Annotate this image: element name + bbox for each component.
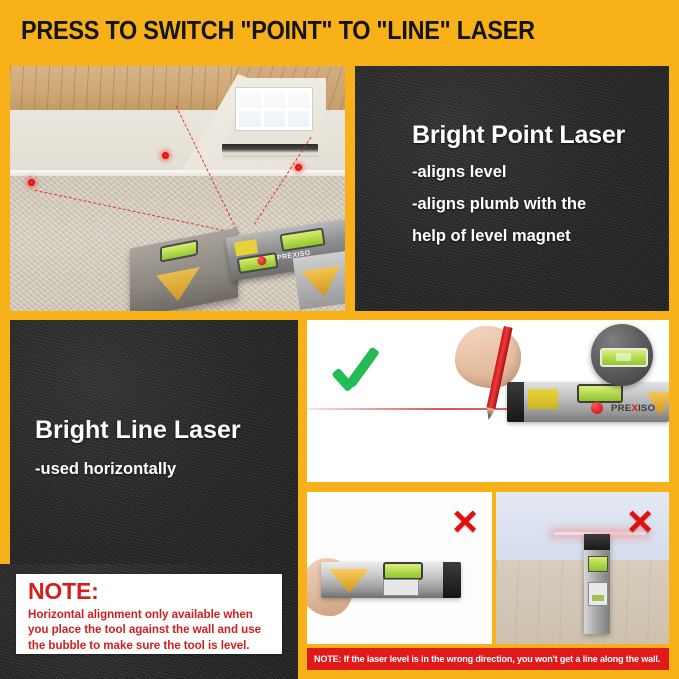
display-screen	[383, 579, 419, 596]
laser-level-tool-correct: PREXISO	[507, 382, 669, 422]
header-banner: PRESS TO SWITCH "POINT" TO "LINE" LASER	[0, 0, 679, 62]
point-laser-bullet-3: help of level magnet	[412, 227, 571, 246]
bright-line-laser-panel: Bright Line Laser -used horizontally	[10, 320, 298, 564]
v-prism-icon	[156, 267, 200, 306]
line-laser-bullet-1: -used horizontally	[35, 460, 176, 479]
hand	[455, 326, 521, 388]
point-laser-title: Bright Point Laser	[412, 121, 625, 150]
attic-room-point-laser-photo: PREXISO	[10, 66, 345, 311]
infographic-root: PRESS TO SWITCH "POINT" TO "LINE" LASER …	[0, 0, 679, 679]
wrong-usage-photo-left: ×	[307, 492, 492, 644]
caption-bar: NOTE: If the laser level is in the wrong…	[307, 648, 669, 670]
bubble-vial-icon	[279, 227, 325, 252]
note-box: NOTE: Horizontal alignment only availabl…	[16, 574, 282, 654]
bubble-vial-icon	[383, 562, 423, 580]
power-button-icon	[591, 402, 603, 414]
point-laser-bullet-1: -aligns level	[412, 163, 506, 182]
note-body: Horizontal alignment only available when…	[28, 607, 276, 653]
end-cap	[443, 562, 461, 598]
point-laser-bullet-2: -aligns plumb with the	[412, 195, 586, 214]
bubble-vial-icon	[160, 239, 198, 262]
cross-icon: ×	[452, 500, 478, 544]
page-title: PRESS TO SWITCH "POINT" TO "LINE" LASER	[21, 17, 535, 46]
caption-text: NOTE: If the laser level is in the wrong…	[314, 654, 660, 664]
v-prism-icon	[329, 569, 369, 593]
wood-board	[307, 420, 669, 436]
check-icon	[333, 342, 387, 396]
warning-label	[234, 239, 258, 256]
display-screen	[588, 582, 608, 606]
brand-label: PREXISO	[611, 403, 655, 414]
end-cap	[584, 534, 610, 550]
laser-level-tool-wrong	[321, 562, 461, 598]
bubble-vial-icon	[577, 384, 623, 403]
line-laser-title: Bright Line Laser	[35, 416, 241, 445]
bubble-vial-icon	[588, 556, 608, 572]
laser-point-center	[162, 152, 169, 159]
laser-level-endcap	[293, 250, 345, 310]
laser-level-tool-vertical	[584, 534, 610, 634]
window	[236, 88, 312, 130]
correct-usage-photo: PREXISO	[307, 320, 669, 482]
laser-point-left	[28, 179, 35, 186]
warning-label	[528, 389, 558, 409]
note-heading: NOTE:	[28, 578, 99, 605]
end-cap	[507, 382, 524, 422]
cross-icon: ×	[627, 500, 653, 544]
bright-point-laser-panel: Bright Point Laser -aligns level -aligns…	[355, 66, 669, 311]
wrong-usage-photo-right: ×	[496, 492, 669, 644]
laser-point-right	[295, 164, 302, 171]
floor	[496, 560, 669, 644]
bubble-vial-magnifier	[591, 324, 653, 386]
bubble-vial-icon-zoom	[600, 348, 648, 367]
